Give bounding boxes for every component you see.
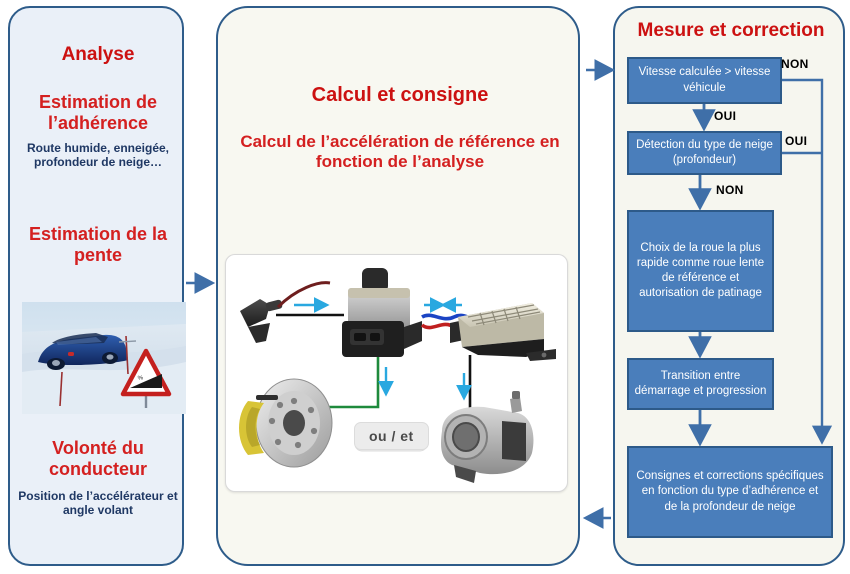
system-components-figure (225, 254, 568, 492)
flow-box-vitesse[interactable]: Vitesse calculée > vitesse véhicule (627, 57, 782, 104)
flow-box-detection[interactable]: Détection du type de neige (profondeur) (627, 131, 782, 175)
flow-label-oui-1: OUI (714, 109, 736, 123)
volonte-detail: Position de l’accélérateur et angle vola… (16, 489, 180, 517)
diagram-canvas: Analyse Estimation de l’adhérence Route … (0, 0, 850, 574)
flow-box-choix-roue[interactable]: Choix de la roue la plus rapide comme ro… (627, 210, 774, 332)
panel-analyse: Analyse Estimation de l’adhérence Route … (8, 6, 184, 566)
flow-label-non-1: NON (781, 57, 809, 71)
pente-heading: Estimation de la pente (14, 224, 182, 266)
flow-box-transition[interactable]: Transition entre démarrage et progressio… (627, 358, 774, 410)
adherence-heading: Estimation de l’adhérence (14, 92, 182, 134)
flow-box-consignes[interactable]: Consignes et corrections spécifiques en … (627, 446, 833, 538)
calcul-subtitle: Calcul de l’accélération de référence en… (232, 132, 568, 171)
snow-road-photo: % (22, 302, 186, 414)
ou-et-label: ou / et (354, 422, 429, 450)
volonte-heading: Volonté du conducteur (14, 438, 182, 480)
analyse-title: Analyse (10, 44, 186, 66)
adherence-detail: Route humide, enneigée, profondeur de ne… (18, 141, 178, 169)
calcul-title: Calcul et consigne (218, 84, 582, 108)
mesure-title: Mesure et correction (615, 20, 847, 42)
flow-label-non-2: NON (716, 183, 744, 197)
flow-label-oui-2: OUI (785, 134, 807, 148)
